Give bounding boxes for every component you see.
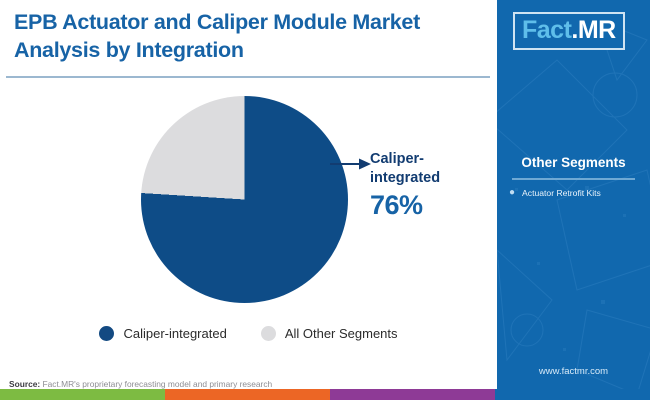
side-panel-divider <box>512 178 635 180</box>
footer-segment-green <box>0 389 165 400</box>
legend-swatch-icon <box>99 326 114 341</box>
source-prefix: Source: <box>9 379 40 389</box>
brand-logo-text: Fact.MR <box>522 18 616 43</box>
main-content-panel: EPB Actuator and Caliper Module Market A… <box>0 0 497 389</box>
page-title: EPB Actuator and Caliper Module Market A… <box>14 9 484 64</box>
brand-logo-mr: .MR <box>571 16 615 44</box>
callout-label: Caliper- integrated <box>370 150 490 187</box>
callout-label-line2: integrated <box>370 170 440 186</box>
side-panel-heading: Other Segments <box>497 155 650 170</box>
side-panel-list: ● Actuator Retrofit Kits <box>509 186 649 206</box>
bullet-icon: ● <box>509 186 515 200</box>
legend-label: Caliper-integrated <box>123 326 226 341</box>
list-item-label: Actuator Retrofit Kits <box>522 186 601 200</box>
footer-color-bar <box>0 389 650 400</box>
source-note: Source: Fact.MR's proprietary forecastin… <box>9 379 272 389</box>
footer-segment-orange <box>165 389 330 400</box>
footer-segment-purple <box>330 389 495 400</box>
title-divider <box>6 76 490 78</box>
pie-chart-slices <box>141 96 348 303</box>
brand-logo[interactable]: Fact.MR <box>513 12 625 50</box>
callout-label-line1: Caliper- <box>370 151 424 167</box>
source-text: Fact.MR's proprietary forecasting model … <box>40 379 272 389</box>
chart-legend: Caliper-integrated All Other Segments <box>0 326 497 341</box>
legend-item-caliper-integrated: Caliper-integrated <box>99 326 226 341</box>
infographic-root: EPB Actuator and Caliper Module Market A… <box>0 0 650 400</box>
side-panel: Fact.MR Other Segments ● Actuator Retrof… <box>497 0 650 400</box>
callout-arrow-icon <box>330 157 372 171</box>
legend-swatch-icon <box>261 326 276 341</box>
legend-item-all-other-segments: All Other Segments <box>261 326 398 341</box>
list-item: ● Actuator Retrofit Kits <box>509 186 649 200</box>
callout-value: 76% <box>370 190 423 221</box>
pie-chart <box>141 96 348 303</box>
website-url[interactable]: www.factmr.com <box>497 366 650 377</box>
brand-logo-fact: Fact <box>522 16 571 44</box>
legend-label: All Other Segments <box>285 326 398 341</box>
footer-segment-blue <box>495 389 650 400</box>
